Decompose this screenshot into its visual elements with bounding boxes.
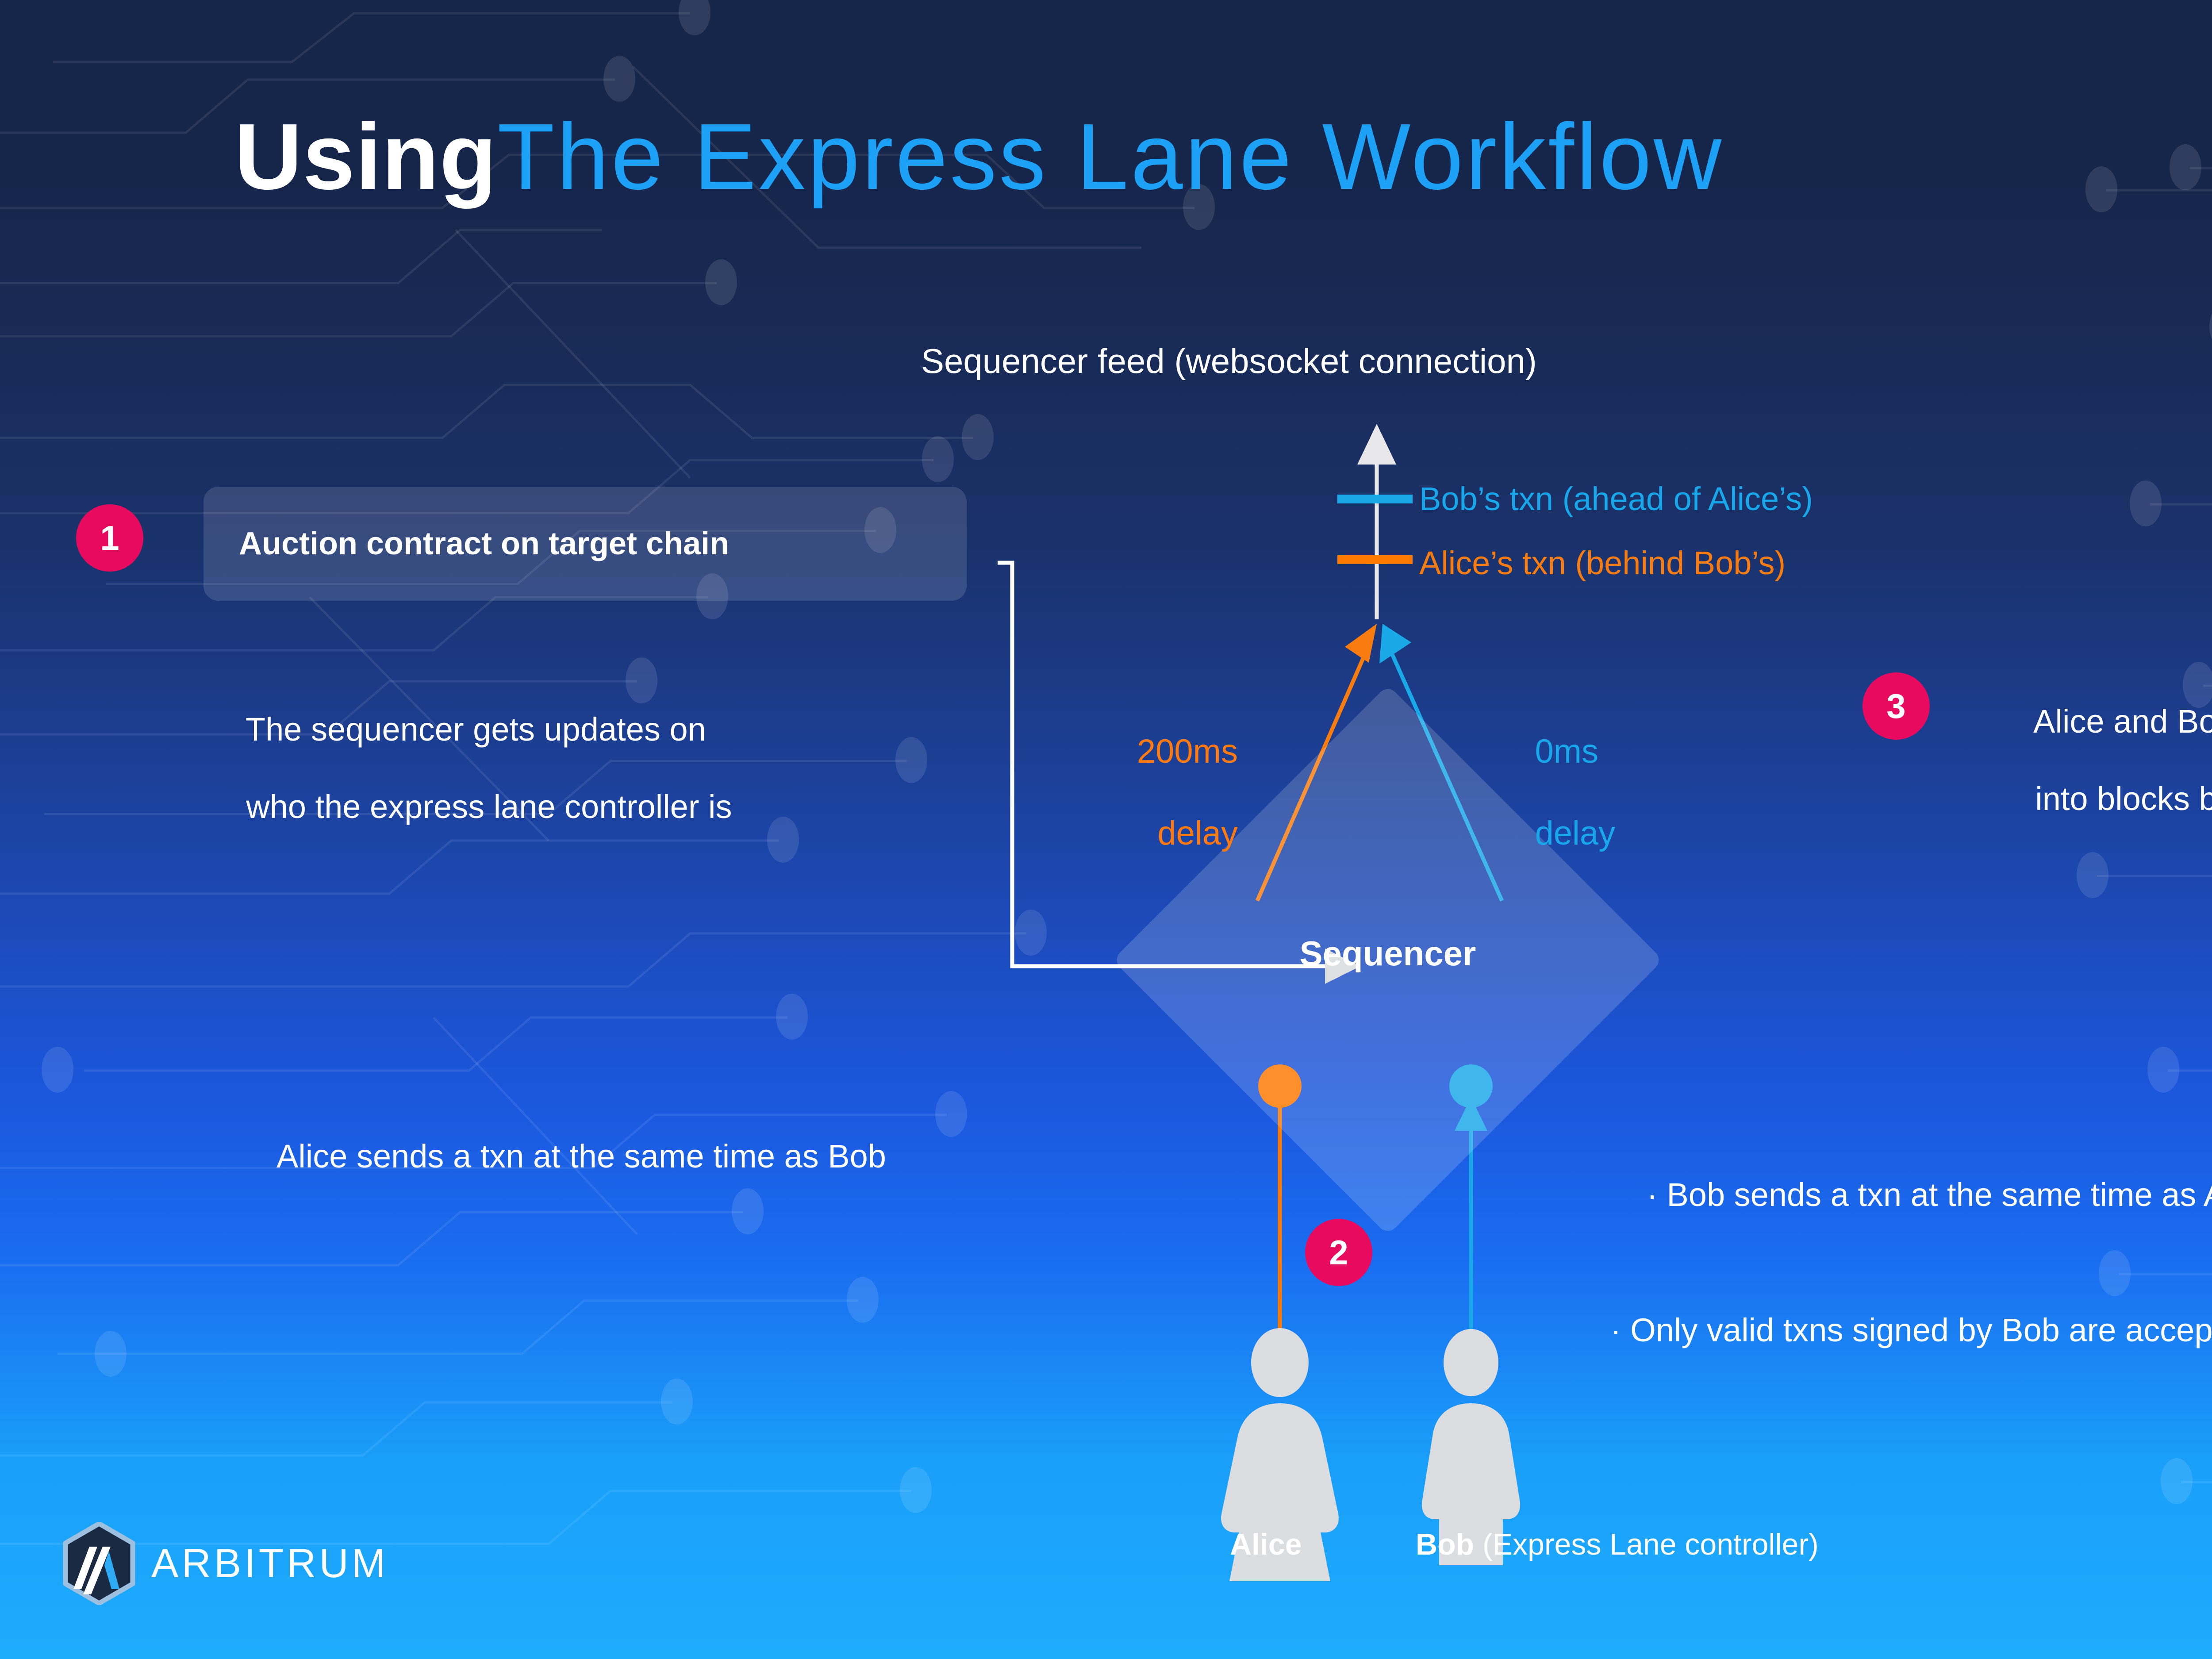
step-badge-3: 3 bbox=[1863, 672, 1930, 740]
auction-contract-label: Auction contract on target chain bbox=[239, 526, 729, 562]
arbitrum-logo: ARBITRUM bbox=[62, 1522, 388, 1605]
actor-label-alice: Alice bbox=[1230, 1527, 1302, 1562]
bob-notes: · Bob sends a txn at the same time as Al… bbox=[1610, 1137, 2212, 1427]
step-1-description: The sequencer gets updates on who the ex… bbox=[210, 672, 732, 865]
page-title-light: The Express Lane Workflow bbox=[497, 104, 1724, 209]
sequencer-label: Sequencer bbox=[1193, 933, 1582, 974]
actor-label-bob-suffix: (Express Lane controller) bbox=[1474, 1528, 1819, 1561]
feed-arrow-icon bbox=[1357, 424, 1396, 619]
delay-alice-value: 200ms bbox=[1137, 733, 1238, 770]
step-3-line-1: Alice and Bob's txns get ordered bbox=[2033, 703, 2212, 740]
arbitrum-mark-icon bbox=[62, 1522, 136, 1605]
alice-note: Alice sends a txn at the same time as Bo… bbox=[276, 1137, 886, 1175]
actor-label-bob: Bob (Express Lane controller) bbox=[1416, 1527, 1819, 1562]
step-1-line-1: The sequencer gets updates on bbox=[246, 711, 706, 748]
page-title-strong: Using bbox=[234, 104, 497, 209]
bob-bullet-2: · Only valid txns signed by Bob are acce… bbox=[1610, 1311, 2212, 1349]
legend-label-alice-txn: Alice’s txn (behind Bob’s) bbox=[1419, 544, 1786, 582]
delay-alice-word: delay bbox=[1157, 814, 1238, 852]
legend-tick-bob bbox=[1337, 495, 1413, 503]
step-3-line-2: into blocks based on timestamp bbox=[2035, 780, 2212, 817]
sequencer-feed-label: Sequencer feed (websocket connection) bbox=[921, 341, 1537, 381]
step-badge-1: 1 bbox=[76, 504, 143, 572]
delay-bob-word: delay bbox=[1535, 814, 1615, 852]
step-badge-2: 2 bbox=[1305, 1219, 1372, 1286]
delay-label-alice: 200ms delay bbox=[1083, 690, 1238, 895]
delay-bob-value: 0ms bbox=[1535, 733, 1598, 770]
legend-label-bob-txn: Bob’s txn (ahead of Alice’s) bbox=[1419, 480, 1813, 518]
bob-bullet-1: · Bob sends a txn at the same time as Al… bbox=[1647, 1176, 2212, 1213]
arbitrum-wordmark: ARBITRUM bbox=[151, 1540, 388, 1587]
auction-contract-box[interactable]: Auction contract on target chain bbox=[204, 487, 967, 601]
delay-label-bob: 0ms delay bbox=[1498, 690, 1652, 895]
legend-tick-alice bbox=[1337, 555, 1413, 564]
actor-label-bob-name: Bob bbox=[1416, 1528, 1474, 1561]
step-3-description: Alice and Bob's txns get ordered into bl… bbox=[1999, 664, 2212, 857]
step-1-line-2: who the express lane controller is bbox=[246, 788, 732, 825]
slide-canvas: UsingThe Express Lane Workflow Sequencer… bbox=[0, 0, 2212, 1659]
page-title: UsingThe Express Lane Workflow bbox=[234, 110, 1724, 204]
